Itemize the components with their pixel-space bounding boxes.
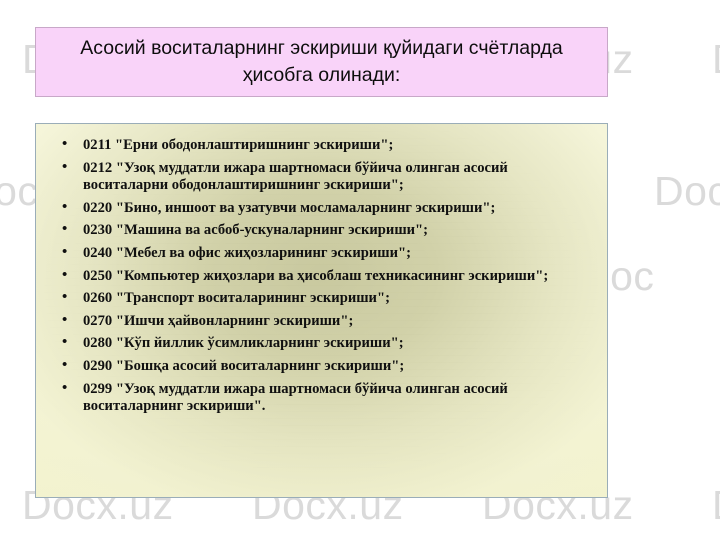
watermark-text: Doc <box>712 36 720 83</box>
list-item: 0240 "Мебел ва офис жиҳозларининг эскири… <box>50 245 589 263</box>
list-item: 0299 "Узоқ муддатли ижара шартномаси бўй… <box>50 381 589 416</box>
slide-content-box: 0211 "Ерни ободонлаштиришнинг эскириши";… <box>35 123 608 498</box>
list-item: 0290 "Бошқа асосий воситаларнинг эскириш… <box>50 358 589 376</box>
account-bullet-list: 0211 "Ерни ободонлаштиришнинг эскириши";… <box>36 124 607 416</box>
watermark-text: Doc <box>712 482 720 529</box>
list-item: 0260 "Транспорт воситаларининг эскириши"… <box>50 290 589 308</box>
list-item: 0270 "Ишчи ҳайвонларнинг эскириши"; <box>50 313 589 331</box>
list-item: 0230 "Машина ва асбоб-ускуналарнинг эски… <box>50 222 589 240</box>
slide-title-box: Асосий воситаларнинг эскириши қуйидаги с… <box>35 27 608 97</box>
page-title: Асосий воситаларнинг эскириши қуйидаги с… <box>36 35 607 89</box>
list-item: 0280 "Кўп йиллик ўсимликларнинг эскириши… <box>50 335 589 353</box>
list-item: 0220 "Бино, иншоот ва узатувчи мосламала… <box>50 200 589 218</box>
watermark-text: Docx.uz <box>654 168 720 215</box>
list-item: 0250 "Компьютер жиҳозлари ва ҳисоблаш те… <box>50 268 589 286</box>
list-item: 0212 "Узоқ муддатли ижара шартномаси бўй… <box>50 160 589 195</box>
list-item: 0211 "Ерни ободонлаштиришнинг эскириши"; <box>50 137 589 155</box>
